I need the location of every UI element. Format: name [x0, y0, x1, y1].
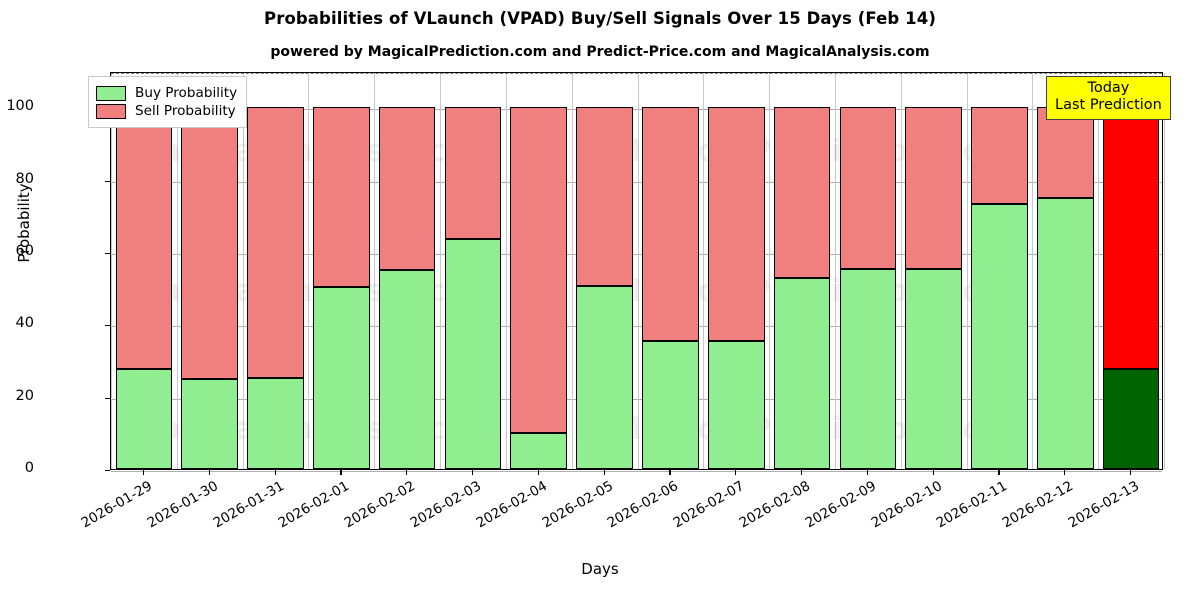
today-annotation-line2: Last Prediction	[1055, 97, 1162, 114]
bar-segment-sell	[576, 107, 633, 286]
x-axis-tick-mark	[801, 470, 802, 475]
plot-area: MagicalAnalysis.comMagicalPrediction.com…	[110, 72, 1163, 470]
y-axis-tick-mark	[105, 398, 110, 399]
x-axis-ticks: 2026-01-292026-01-302026-01-312026-02-01…	[0, 470, 1200, 600]
bar-segment-sell	[1037, 107, 1094, 198]
bar-today[interactable]	[1103, 71, 1160, 469]
bar-stacked[interactable]	[971, 71, 1028, 469]
bar-segment-sell	[774, 107, 831, 278]
bar-series-layer	[111, 73, 1162, 469]
bar-stacked[interactable]	[1037, 71, 1094, 469]
bar-stacked[interactable]	[774, 71, 831, 469]
bar-segment-buy	[1103, 369, 1160, 469]
x-axis-tick-mark	[406, 470, 407, 475]
x-axis-tick-mark	[143, 470, 144, 475]
x-axis-tick-mark	[209, 470, 210, 475]
page-title: Probabilities of VLaunch (VPAD) Buy/Sell…	[0, 9, 1200, 28]
legend-label: Sell Probability	[135, 103, 236, 119]
x-axis-label: Days	[0, 560, 1200, 578]
bar-segment-buy	[445, 239, 502, 469]
legend-swatch	[96, 104, 126, 119]
bar-stacked[interactable]	[247, 71, 304, 469]
bar-segment-sell	[971, 107, 1028, 204]
chart-figure: Probabilities of VLaunch (VPAD) Buy/Sell…	[0, 0, 1200, 600]
bar-segment-sell	[708, 107, 765, 341]
bar-segment-sell	[116, 107, 173, 369]
y-axis-label: Probability	[15, 23, 33, 423]
bar-stacked[interactable]	[510, 71, 567, 469]
bar-segment-buy	[905, 269, 962, 469]
chart-legend: Buy ProbabilitySell Probability	[88, 76, 247, 128]
bar-segment-sell	[313, 107, 370, 287]
bar-segment-buy	[642, 341, 699, 469]
bar-segment-buy	[708, 341, 765, 469]
bar-segment-sell	[181, 107, 238, 378]
bar-segment-buy	[971, 204, 1028, 469]
x-axis-tick-mark	[1130, 470, 1131, 475]
bar-segment-sell	[379, 107, 436, 270]
bar-stacked[interactable]	[313, 71, 370, 469]
bar-segment-buy	[181, 379, 238, 469]
x-axis-tick-mark	[867, 470, 868, 475]
x-axis-tick-mark	[340, 470, 341, 475]
y-axis-tick-mark	[105, 325, 110, 326]
x-axis-tick-mark	[735, 470, 736, 475]
bar-stacked[interactable]	[181, 71, 238, 469]
bar-stacked[interactable]	[708, 71, 765, 469]
legend-item: Sell Probability	[96, 103, 237, 119]
x-axis-tick-mark	[604, 470, 605, 475]
bar-stacked[interactable]	[642, 71, 699, 469]
today-annotation-line1: Today	[1055, 80, 1162, 97]
bar-segment-sell	[445, 107, 502, 239]
bar-segment-buy	[774, 278, 831, 469]
legend-swatch	[96, 86, 126, 101]
x-axis-tick-mark	[933, 470, 934, 475]
bar-segment-buy	[116, 369, 173, 469]
bar-stacked[interactable]	[379, 71, 436, 469]
bar-segment-buy	[840, 269, 897, 469]
bar-segment-buy	[510, 433, 567, 469]
bar-segment-sell	[510, 107, 567, 433]
bar-segment-sell	[905, 107, 962, 269]
bar-segment-buy	[247, 378, 304, 469]
y-axis-tick-mark	[105, 181, 110, 182]
bar-segment-buy	[1037, 198, 1094, 469]
bar-stacked[interactable]	[116, 71, 173, 469]
bar-segment-buy	[313, 287, 370, 469]
bar-segment-sell	[1103, 107, 1160, 369]
bar-stacked[interactable]	[445, 71, 502, 469]
bar-segment-sell	[247, 107, 304, 378]
x-axis-tick-mark	[472, 470, 473, 475]
legend-item: Buy Probability	[96, 85, 237, 101]
legend-label: Buy Probability	[135, 85, 237, 101]
bar-stacked[interactable]	[840, 71, 897, 469]
x-axis-tick-mark	[669, 470, 670, 475]
bar-segment-sell	[642, 107, 699, 341]
bar-segment-buy	[379, 270, 436, 469]
x-axis-tick-mark	[538, 470, 539, 475]
gridline-x	[1164, 73, 1165, 469]
x-axis-tick-mark	[275, 470, 276, 475]
bar-segment-buy	[576, 286, 633, 469]
y-axis-tick-mark	[105, 253, 110, 254]
today-annotation: Today Last Prediction	[1046, 76, 1171, 120]
chart-subtitle: powered by MagicalPrediction.com and Pre…	[0, 44, 1200, 60]
bar-segment-sell	[840, 107, 897, 269]
x-axis-tick-mark	[1064, 470, 1065, 475]
bar-stacked[interactable]	[576, 71, 633, 469]
x-axis-tick-mark	[998, 470, 999, 475]
bar-stacked[interactable]	[905, 71, 962, 469]
